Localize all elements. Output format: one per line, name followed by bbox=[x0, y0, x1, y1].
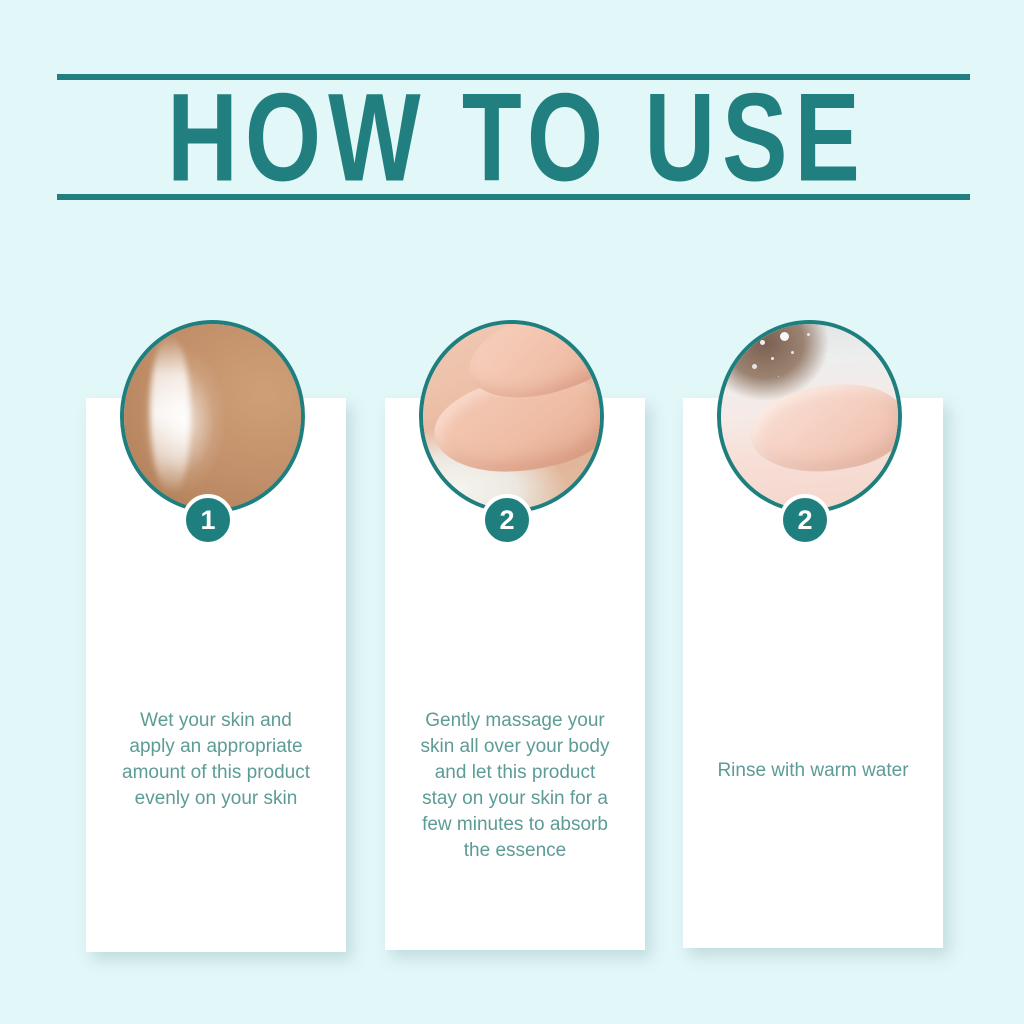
rinsing-hands-photo bbox=[717, 320, 902, 513]
step-number-badge-1: 1 bbox=[182, 494, 234, 546]
massaging-hands-photo-inner bbox=[419, 320, 604, 513]
steps-row: Wet your skin and apply an appropriate a… bbox=[0, 0, 1024, 1024]
step-description-1: Wet your skin and apply an appropriate a… bbox=[96, 708, 336, 812]
wet-skin-photo bbox=[120, 320, 305, 513]
step-number-badge-3: 2 bbox=[779, 494, 831, 546]
step-number-badge-2: 2 bbox=[481, 494, 533, 546]
poster-canvas: HOW TO USE Wet your skin and apply an ap… bbox=[0, 0, 1024, 1024]
wet-skin-photo-inner bbox=[120, 320, 305, 513]
step-description-2: Gently massage your skin all over your b… bbox=[395, 708, 635, 864]
rinsing-hands-photo-inner bbox=[717, 320, 902, 513]
massaging-hands-photo bbox=[419, 320, 604, 513]
rinsing-hands-image bbox=[717, 320, 902, 513]
step-description-3: Rinse with warm water bbox=[693, 758, 933, 784]
massaging-hands-image bbox=[419, 320, 604, 513]
wet-skin-image bbox=[120, 320, 305, 513]
